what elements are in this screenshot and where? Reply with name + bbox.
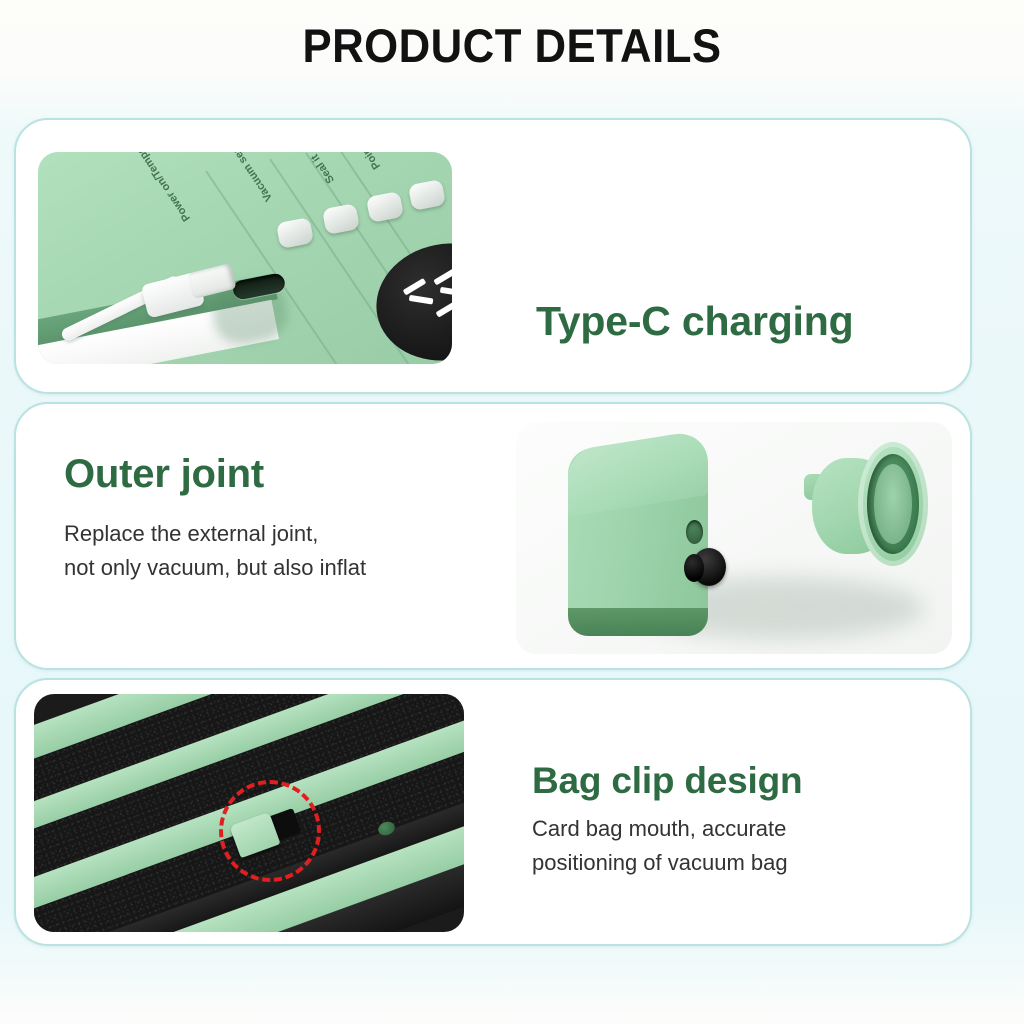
feature-body-line-2: not only vacuum, but also inflat [64, 551, 366, 585]
feature-panel-type-c-charging: Power on/Temperature Vacuum seal Seal it… [14, 118, 972, 394]
feature-heading: Outer joint [64, 452, 366, 497]
feature-text-type-c-charging: Type-C charging [536, 298, 853, 345]
funnel-inner-cavity-core [874, 464, 912, 544]
product-photo-outer-joint [516, 422, 952, 654]
product-photo-bag-clip-design [34, 694, 464, 932]
highlight-circle-annotation [219, 780, 321, 882]
feature-heading: Bag clip design [532, 760, 802, 802]
feature-body-line-1: Replace the external joint, [64, 517, 366, 551]
product-photo-type-c-charging: Power on/Temperature Vacuum seal Seal it… [38, 152, 452, 364]
feature-text-outer-joint: Outer joint Replace the external joint, … [64, 452, 366, 585]
feature-body-line-1: Card bag mouth, accurate [532, 812, 802, 846]
black-nozzle-inner [684, 554, 704, 582]
feature-text-bag-clip-design: Bag clip design Card bag mouth, accurate… [532, 760, 802, 880]
feature-panel-outer-joint: Outer joint Replace the external joint, … [14, 402, 972, 670]
feature-panel-bag-clip-design: Bag clip design Card bag mouth, accurate… [14, 678, 972, 946]
feature-heading: Type-C charging [536, 298, 853, 345]
joint-socket-hole [686, 520, 703, 544]
feature-body-line-2: positioning of vacuum bag [532, 846, 802, 880]
sealer-unit-base [568, 608, 708, 636]
page-title: PRODUCT DETAILS [36, 18, 988, 73]
